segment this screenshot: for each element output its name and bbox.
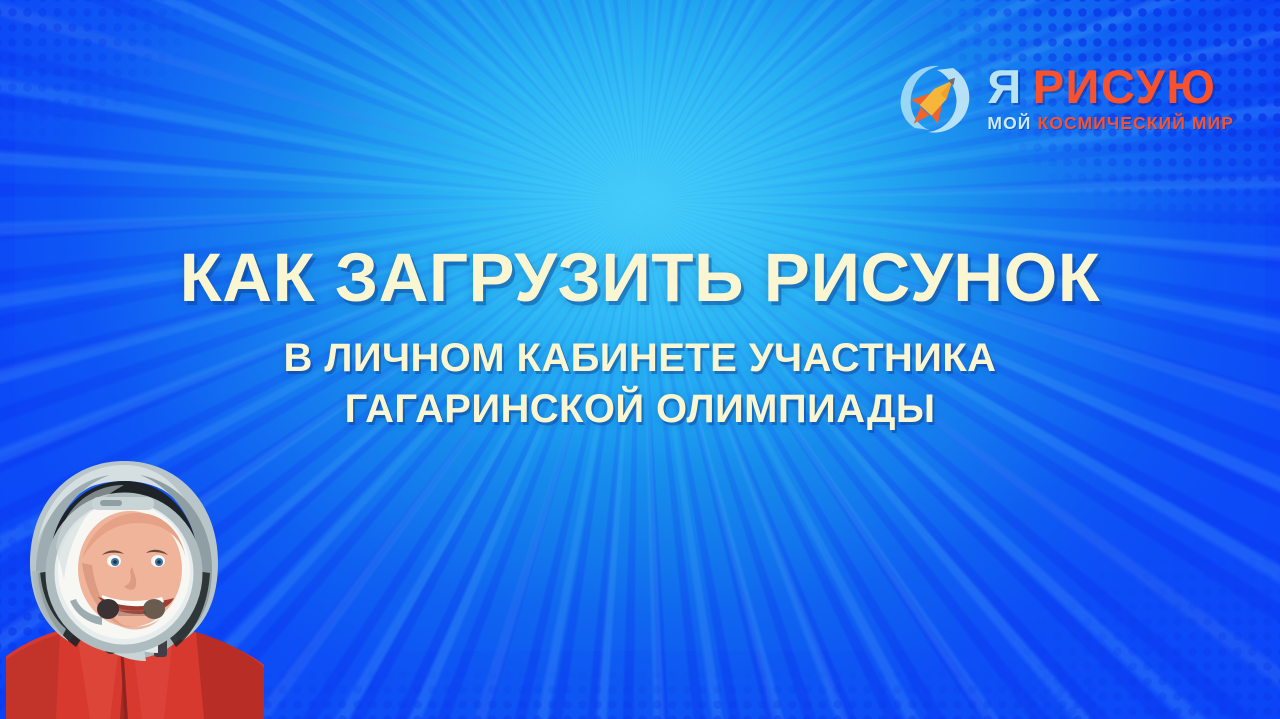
logo-wordmark: ЯРИСУЮ МОЙКОСМИЧЕСКИЙ МИР	[987, 64, 1234, 136]
brand-logo: ЯРИСУЮ МОЙКОСМИЧЕСКИЙ МИР	[893, 58, 1234, 142]
page-subtitle-line-2: ГАГАРИНСКОЙ ОЛИМПИАДЫ	[40, 384, 1240, 435]
page-title: КАК ЗАГРУЗИТЬ РИСУНОК	[40, 243, 1240, 312]
slide-root: ЯРИСУЮ МОЙКОСМИЧЕСКИЙ МИР КАК ЗАГРУЗИТЬ …	[0, 0, 1280, 719]
cosmonaut-illustration	[6, 451, 268, 719]
logo-word-kosmichesky-mir: КОСМИЧЕСКИЙ МИР	[1038, 113, 1235, 133]
logo-line-primary: ЯРИСУЮ	[987, 64, 1234, 110]
logo-line-secondary: МОЙКОСМИЧЕСКИЙ МИР	[987, 113, 1234, 134]
logo-word-moy: МОЙ	[987, 113, 1031, 133]
logo-word-ya: Я	[987, 60, 1022, 113]
logo-word-risuyu: РИСУЮ	[1033, 60, 1217, 113]
page-subtitle-line-1: В ЛИЧНОМ КАБИНЕТЕ УЧАСТНИКА	[40, 333, 1240, 384]
rocket-pencil-crescent-icon	[893, 58, 977, 142]
heading-block: КАК ЗАГРУЗИТЬ РИСУНОК В ЛИЧНОМ КАБИНЕТЕ …	[0, 243, 1280, 435]
